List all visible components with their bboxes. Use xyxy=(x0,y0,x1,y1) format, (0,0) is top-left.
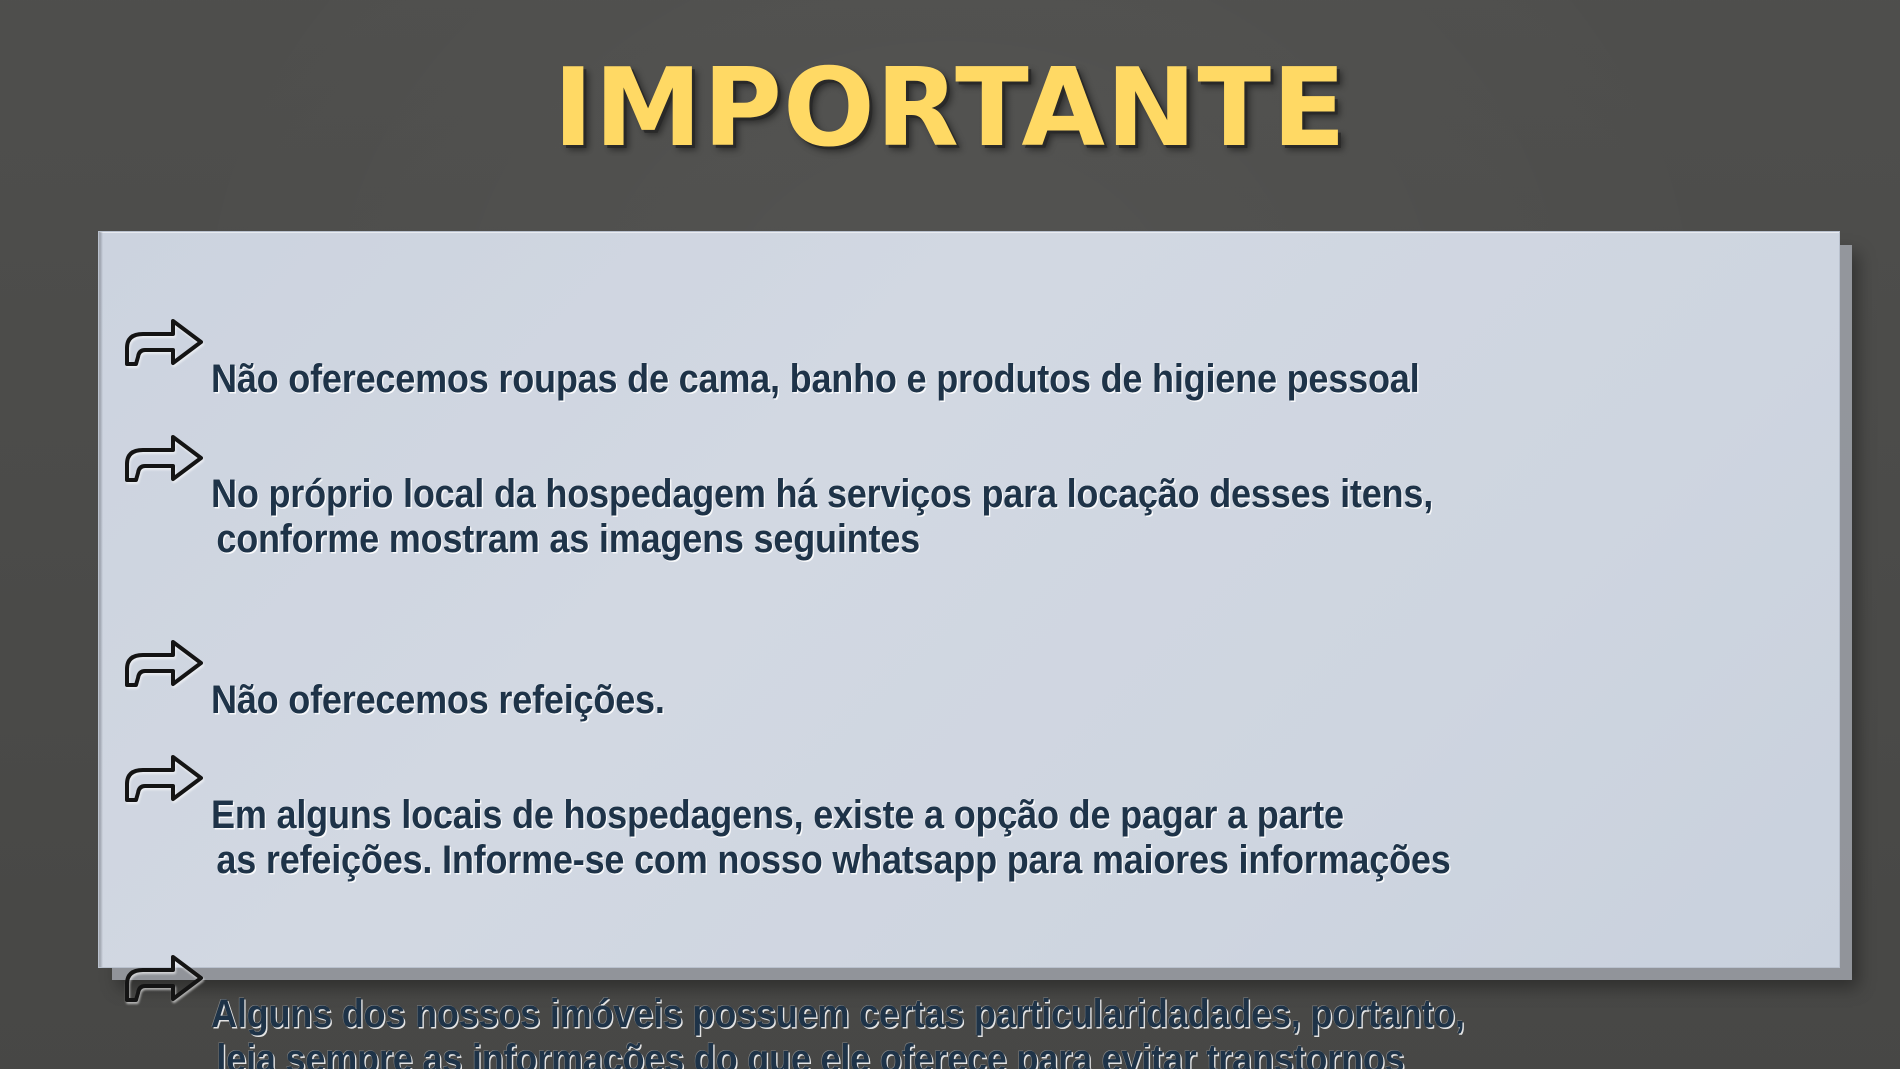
list-item: No próprio local da hospedagem há serviç… xyxy=(123,428,1823,607)
list-item-line1: Não oferecemos refeições. xyxy=(211,678,665,722)
list-item-line1: Alguns dos nossos imóveis possuem certas… xyxy=(211,992,1465,1036)
list-item: Não oferecemos refeições. xyxy=(123,633,1823,723)
list-item-line2: leia sempre as informações do que ele of… xyxy=(211,1037,1662,1069)
right-arrow-icon xyxy=(123,952,205,1004)
list-item-text: Não oferecemos roupas de cama, banho e p… xyxy=(211,312,1662,402)
bullet-icon-cell xyxy=(123,948,211,1004)
list-item: Não oferecemos roupas de cama, banho e p… xyxy=(123,312,1823,402)
list-item-line1: Em alguns locais de hospedagens, existe … xyxy=(211,793,1344,837)
list-item-text: Em alguns locais de hospedagens, existe … xyxy=(211,748,1662,927)
bullet-icon-cell xyxy=(123,428,211,484)
list-item-line2: conforme mostram as imagens seguintes xyxy=(211,517,1662,562)
list-item-line1: Não oferecemos roupas de cama, banho e p… xyxy=(211,357,1419,401)
right-arrow-icon xyxy=(123,637,205,689)
content-panel: Não oferecemos roupas de cama, banho e p… xyxy=(98,231,1840,968)
right-arrow-icon xyxy=(123,752,205,804)
slide-canvas: IMPORTANTE Não oferecemos roupas de cama… xyxy=(0,0,1900,1069)
list-item-text: No próprio local da hospedagem há serviç… xyxy=(211,428,1662,607)
page-title: IMPORTANTE xyxy=(0,52,1900,165)
list-item: Alguns dos nossos imóveis possuem certas… xyxy=(123,948,1823,1069)
list-item-line2: as refeições. Informe-se com nosso whats… xyxy=(211,838,1662,883)
bullet-icon-cell xyxy=(123,312,211,368)
list-item-text: Alguns dos nossos imóveis possuem certas… xyxy=(211,948,1662,1069)
list-item-line1: No próprio local da hospedagem há serviç… xyxy=(211,472,1433,516)
content-panel-wrapper: Não oferecemos roupas de cama, banho e p… xyxy=(98,231,1838,966)
list-item-text: Não oferecemos refeições. xyxy=(211,633,1662,723)
right-arrow-icon xyxy=(123,316,205,368)
right-arrow-icon xyxy=(123,432,205,484)
bullet-icon-cell xyxy=(123,633,211,689)
bullet-icon-cell xyxy=(123,748,211,804)
list-item: Em alguns locais de hospedagens, existe … xyxy=(123,748,1823,927)
bullet-list: Não oferecemos roupas de cama, banho e p… xyxy=(123,312,1823,1069)
